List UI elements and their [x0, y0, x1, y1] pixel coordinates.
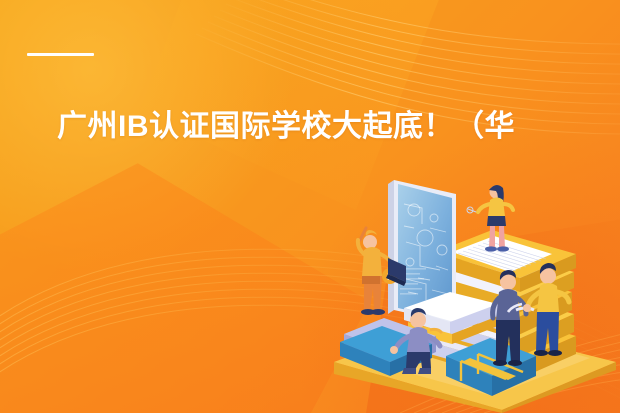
title-accent-rule	[27, 53, 94, 56]
article-cover-banner: 广州IB认证国际学校大起底！（华	[0, 0, 620, 413]
page-title: 广州IB认证国际学校大起底！（华	[57, 107, 620, 147]
isometric-education-illustration: K	[330, 170, 620, 413]
background-facet-lower-left	[0, 150, 370, 413]
